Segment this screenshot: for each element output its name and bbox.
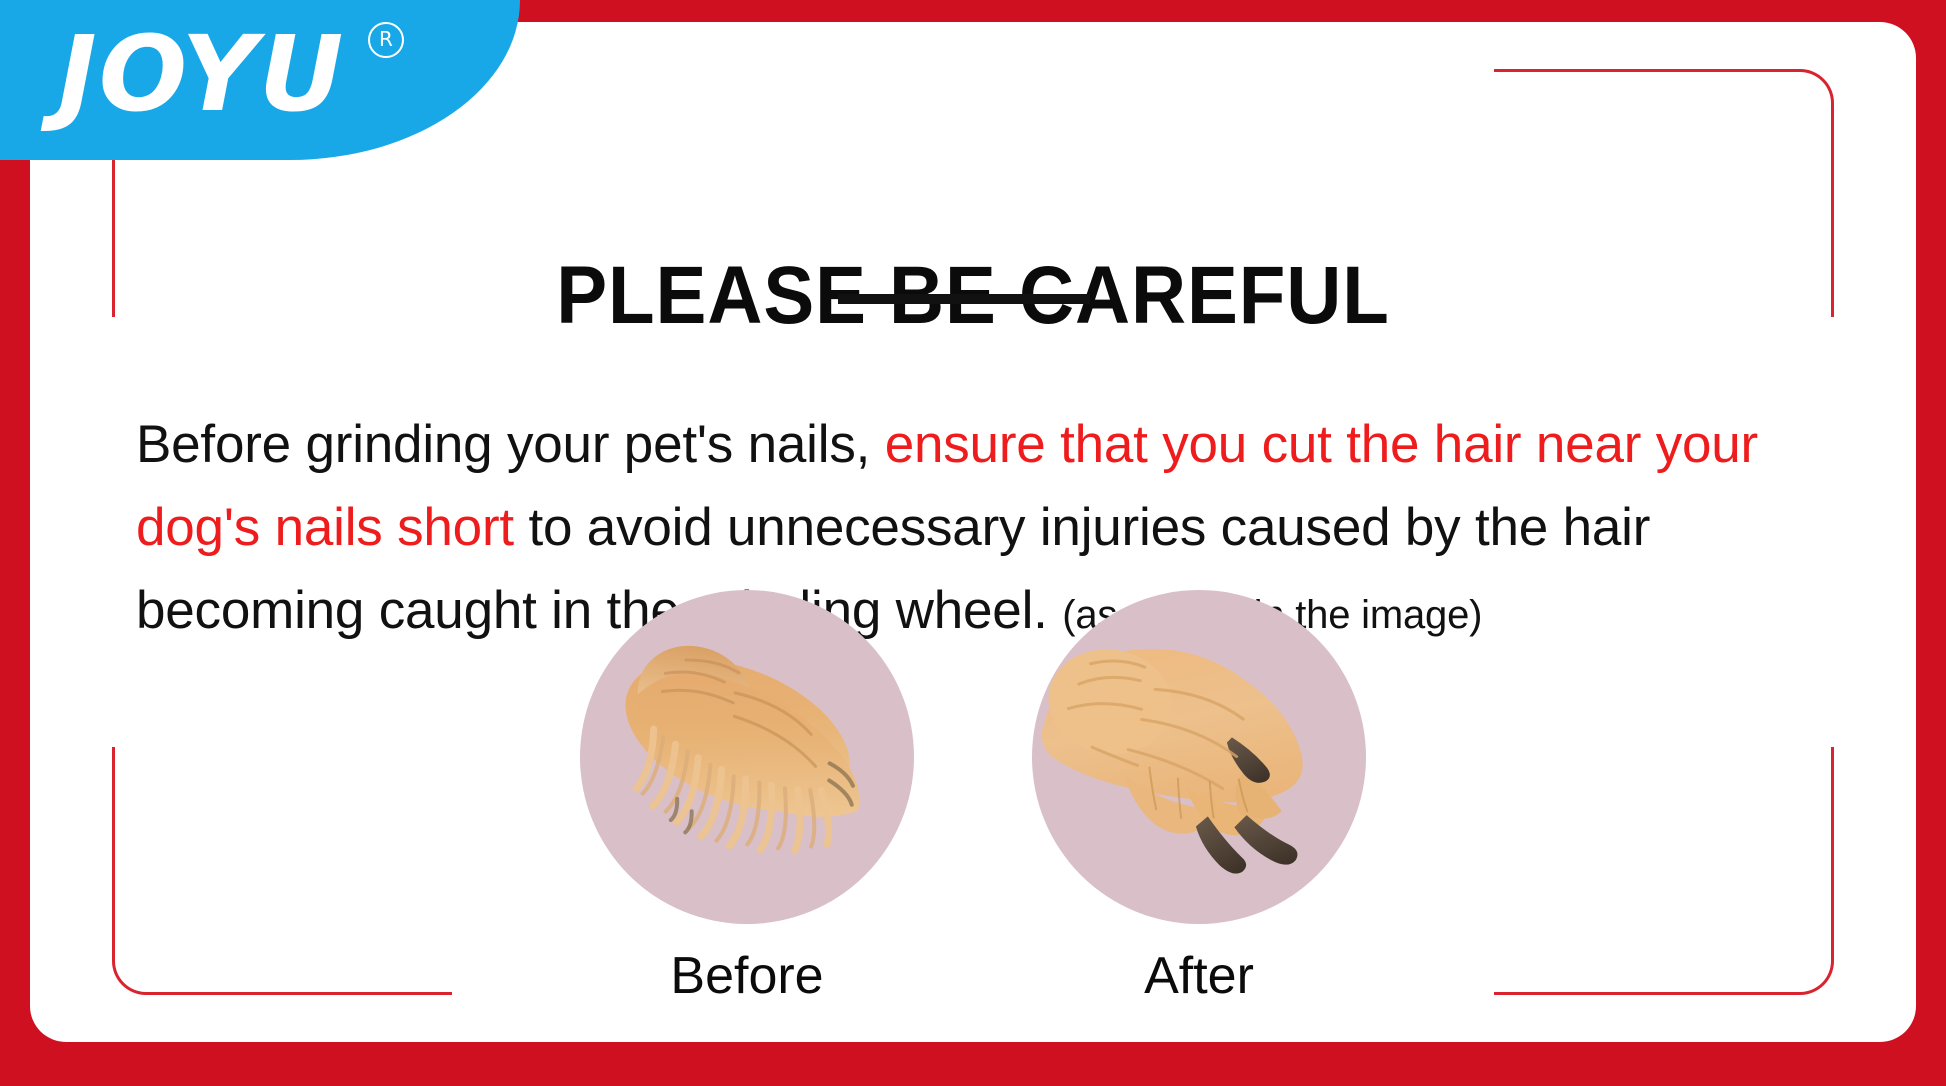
paw-trimmed-illustration [1032, 590, 1366, 924]
comparison-caption-after: After [1144, 946, 1254, 1006]
paw-long-hair-illustration [580, 590, 914, 924]
comparison-caption-before: Before [670, 946, 823, 1006]
before-after-comparison: Before [30, 590, 1916, 1006]
comparison-item-after: After [1029, 590, 1369, 1006]
promo-banner: PLEASE BE CAREFUL Before grinding your p… [0, 0, 1946, 1086]
content-card: PLEASE BE CAREFUL Before grinding your p… [30, 22, 1916, 1042]
registered-trademark-icon: R [368, 22, 404, 58]
title-underline-rule [838, 294, 1090, 304]
paw-photo-after [1032, 590, 1366, 924]
paw-photo-before [580, 590, 914, 924]
comparison-item-before: Before [577, 590, 917, 1006]
warning-text-lead: Before grinding your pet's nails, [136, 415, 885, 474]
brand-wordmark: JOYU [58, 14, 345, 134]
